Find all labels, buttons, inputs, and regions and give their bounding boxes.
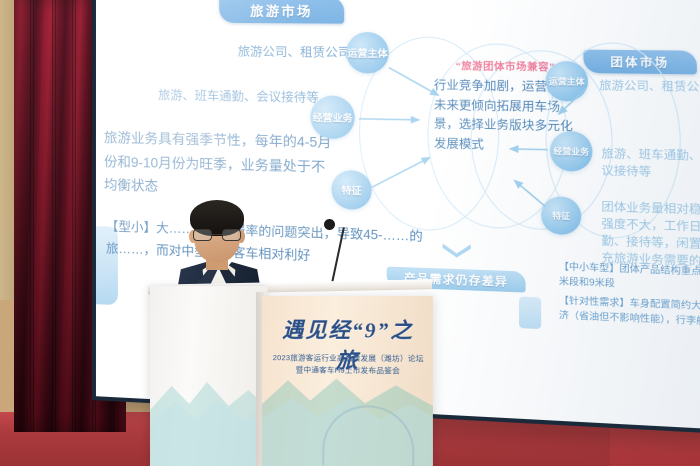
podium-forum-line2: 暨中通客车H9上市发布品鉴会 bbox=[270, 364, 427, 376]
glasses-icon bbox=[193, 229, 241, 241]
podium-mountain-graphic bbox=[150, 370, 268, 466]
photo-scene: 旅游市场 团体市场 旅游公司、租赁公司 旅游、班车通勤、会议接待等 旅游业务具有… bbox=[0, 0, 700, 466]
podium-forum-line1: 2023旅游客运行业高品质发展（潍坊）论坛 bbox=[270, 352, 427, 364]
podium-front-panel: 遇见经“9”之旅 2023旅游客运行业高品质发展（潍坊）论坛 暨中通客车H9上市… bbox=[262, 296, 433, 466]
podium-side-panel bbox=[150, 286, 268, 466]
microphone-head-icon bbox=[324, 219, 335, 230]
